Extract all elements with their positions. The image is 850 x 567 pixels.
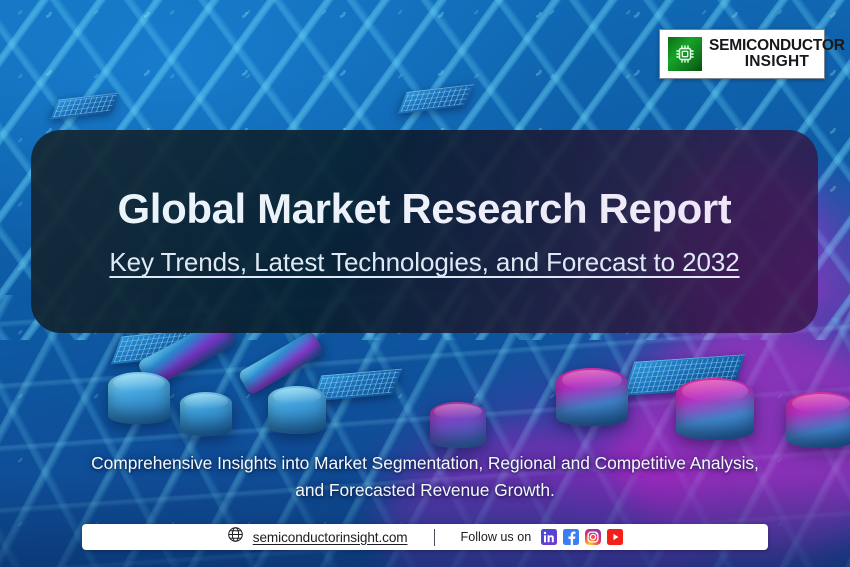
description-text: Comprehensive Insights into Market Segme…	[0, 450, 850, 504]
chip-icon	[668, 37, 702, 71]
report-cover-poster: SEMICONDUCTOR INSIGHT Global Market Rese…	[0, 0, 850, 567]
circuit-capacitor-b	[180, 392, 232, 436]
logo-line-2: INSIGHT	[745, 54, 809, 70]
logo-line-1: SEMICONDUCTOR	[709, 38, 845, 54]
linkedin-icon[interactable]	[541, 529, 557, 545]
globe-icon	[227, 526, 244, 548]
circuit-capacitor-a	[108, 372, 170, 424]
company-logo[interactable]: SEMICONDUCTOR INSIGHT	[659, 29, 825, 79]
instagram-icon[interactable]	[585, 529, 601, 545]
social-links	[541, 529, 623, 545]
logo-wordmark: SEMICONDUCTOR INSIGHT	[709, 38, 845, 70]
circuit-capacitor-f	[786, 392, 850, 448]
footer-bar: semiconductorinsight.com Follow us on	[82, 524, 768, 550]
chip-pin-grid	[315, 371, 399, 399]
follow-us-label: Follow us on	[461, 530, 532, 544]
page-subtitle: Key Trends, Latest Technologies, and For…	[109, 247, 739, 278]
circuit-capacitor-e	[676, 378, 754, 440]
website-link[interactable]: semiconductorinsight.com	[253, 530, 408, 545]
footer-divider	[434, 529, 435, 546]
page-title: Global Market Research Report	[118, 185, 732, 233]
hero-panel: Global Market Research Report Key Trends…	[31, 130, 818, 333]
facebook-icon[interactable]	[563, 529, 579, 545]
description-line-1: Comprehensive Insights into Market Segme…	[18, 450, 832, 477]
circuit-capacitor-c	[268, 386, 326, 434]
description-line-2: and Forecasted Revenue Growth.	[18, 477, 832, 504]
circuit-capacitor-g	[430, 402, 486, 448]
circuit-capacitor-d	[556, 368, 628, 426]
youtube-icon[interactable]	[607, 529, 623, 545]
